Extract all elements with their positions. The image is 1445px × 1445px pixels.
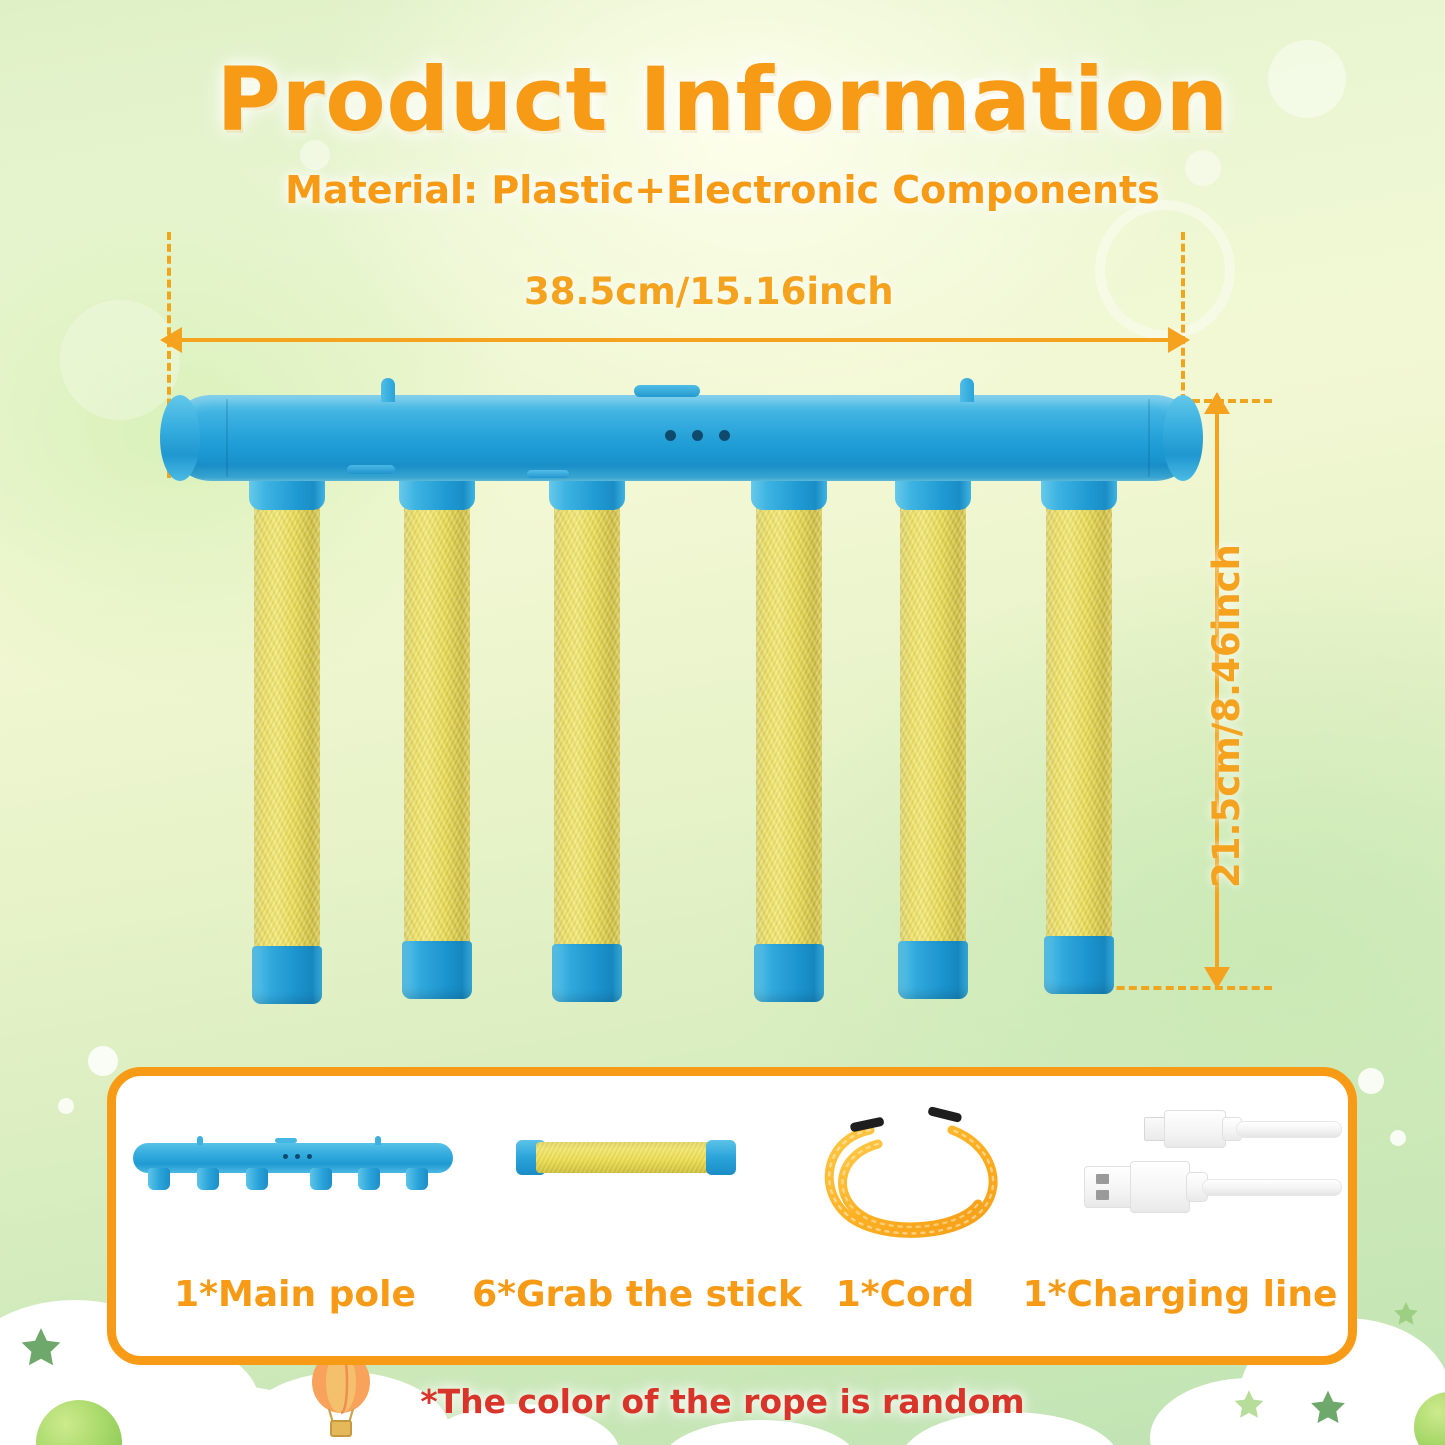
usb-contact: [1096, 1190, 1109, 1200]
grab-stick: [1046, 470, 1112, 950]
bokeh-dot: [1390, 1130, 1406, 1146]
mini-stick-body: [536, 1142, 716, 1173]
usb-a-tip: [1084, 1166, 1134, 1208]
product-information-infographic: Product Information Material: Plastic+El…: [0, 0, 1445, 1445]
pole-switch: [527, 470, 569, 478]
width-arrow-line: [180, 338, 1180, 342]
mini-socket: [197, 1168, 219, 1190]
cloud: [660, 1420, 860, 1445]
accessory-label-grab-stick: 6*Grab the stick: [452, 1274, 822, 1315]
grab-stick: [404, 470, 470, 955]
mini-socket: [148, 1168, 170, 1190]
material-subtitle: Material: Plastic+Electronic Components: [0, 168, 1445, 212]
height-dimension-label: 21.5cm/8.46inch: [1205, 544, 1248, 888]
stick-end-cap: [552, 944, 622, 1002]
cable-wire: [1202, 1179, 1342, 1196]
stick-end-cap: [898, 941, 968, 999]
pole-socket: [549, 452, 625, 510]
mini-socket: [310, 1168, 332, 1190]
bokeh-dot: [60, 300, 180, 420]
height-arrow-head-down: [1204, 967, 1230, 989]
usb-a-housing: [1130, 1161, 1190, 1213]
cable-wire: [1236, 1121, 1342, 1138]
led-indicator-dots: [665, 430, 730, 441]
page-title: Product Information: [0, 48, 1445, 151]
pole-hook: [960, 378, 974, 402]
dim-guide-bottom: [1092, 986, 1272, 990]
mini-button: [275, 1138, 297, 1143]
color-random-note: *The color of the rope is random: [0, 1382, 1445, 1421]
width-dimension-label: 38.5cm/15.16inch: [524, 270, 894, 313]
accessory-label-main-pole: 1*Main pole: [145, 1274, 445, 1315]
mini-led-dots: [283, 1154, 312, 1159]
cord-icon: [812, 1104, 1012, 1254]
main-pole: [168, 395, 1198, 481]
pole-socket: [1041, 452, 1117, 510]
cord-aglet: [927, 1106, 962, 1123]
grab-stick: [254, 470, 320, 960]
pole-seam: [1148, 399, 1150, 477]
dim-guide-left: [167, 232, 171, 478]
mini-socket: [358, 1168, 380, 1190]
pole-socket: [249, 452, 325, 510]
bokeh-dot: [78, 1360, 100, 1382]
pole-socket: [751, 452, 827, 510]
pole-hook: [381, 378, 395, 402]
pole-socket: [895, 452, 971, 510]
grab-stick: [900, 470, 966, 955]
accessory-label-charging-line: 1*Charging line: [1020, 1274, 1340, 1315]
width-arrow-head-right: [1168, 327, 1190, 353]
cord-svg: [812, 1104, 1012, 1254]
mini-hook: [375, 1136, 381, 1145]
bokeh-dot: [58, 1098, 74, 1114]
accessory-label-cord: 1*Cord: [790, 1274, 1020, 1315]
grab-stick: [756, 470, 822, 958]
star-icon: [1392, 1300, 1420, 1328]
mini-socket: [406, 1168, 428, 1190]
bokeh-dot: [88, 1046, 118, 1076]
grab-stick: [554, 470, 620, 958]
bokeh-dot: [1358, 1068, 1384, 1094]
stick-end-cap: [402, 941, 472, 999]
mini-stick-cap-right: [706, 1140, 736, 1175]
bokeh-ring: [1095, 200, 1235, 340]
pole-seam: [226, 399, 228, 477]
mini-socket: [246, 1168, 268, 1190]
pole-end-cap-right: [1163, 395, 1203, 481]
pole-socket: [399, 452, 475, 510]
star-icon: [18, 1325, 64, 1371]
stick-end-cap: [754, 944, 824, 1002]
dim-guide-top: [1000, 399, 1272, 403]
width-arrow-head-left: [160, 327, 182, 353]
pole-button: [634, 385, 700, 397]
stick-end-cap: [252, 946, 322, 1004]
dim-guide-right: [1181, 232, 1185, 402]
mini-hook: [197, 1136, 203, 1145]
pole-switch: [347, 465, 395, 474]
usb-contact: [1096, 1174, 1109, 1184]
pole-end-cap-left: [160, 395, 200, 481]
micro-usb-plug: [1164, 1110, 1226, 1148]
height-arrow-head-up: [1204, 392, 1230, 414]
